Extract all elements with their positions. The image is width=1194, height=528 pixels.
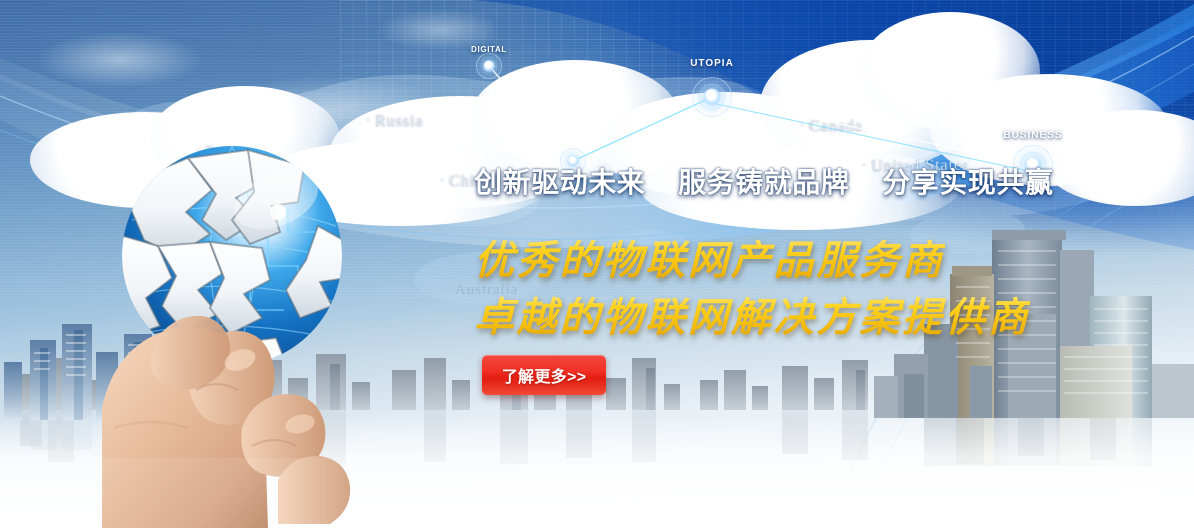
headline-part-3: 分享实现共赢 (882, 167, 1053, 198)
hand-holding-globe (92, 128, 452, 528)
node-core-icon (704, 89, 721, 106)
network-node-label-digital: DIGITAL (471, 45, 507, 54)
network-node-utopia[interactable] (692, 77, 732, 117)
network-node-digital[interactable] (476, 53, 502, 79)
hero-banner: Europe Russia China Canada United States… (0, 0, 1194, 528)
node-core-icon (568, 156, 579, 167)
hero-subline-2: 卓越的物联网解决方案提供商 (474, 285, 1030, 343)
hero-headline: 创新驱动未来 服务铸就品牌 分享实现共赢 (474, 166, 1074, 199)
headline-part-2: 服务铸就品牌 (678, 167, 849, 198)
headline-part-1: 创新驱动未来 (474, 167, 645, 198)
hero-subline-1: 优秀的物联网产品服务商 (474, 228, 945, 286)
network-node-label-business: BUSINESS (1003, 130, 1062, 141)
learn-more-button[interactable]: 了解更多>> (482, 355, 606, 395)
hero-copy-block: 创新驱动未来 服务铸就品牌 分享实现共赢 (474, 166, 1074, 199)
network-node-label-utopia: UTOPIA (690, 58, 734, 69)
node-core-icon (484, 61, 495, 72)
